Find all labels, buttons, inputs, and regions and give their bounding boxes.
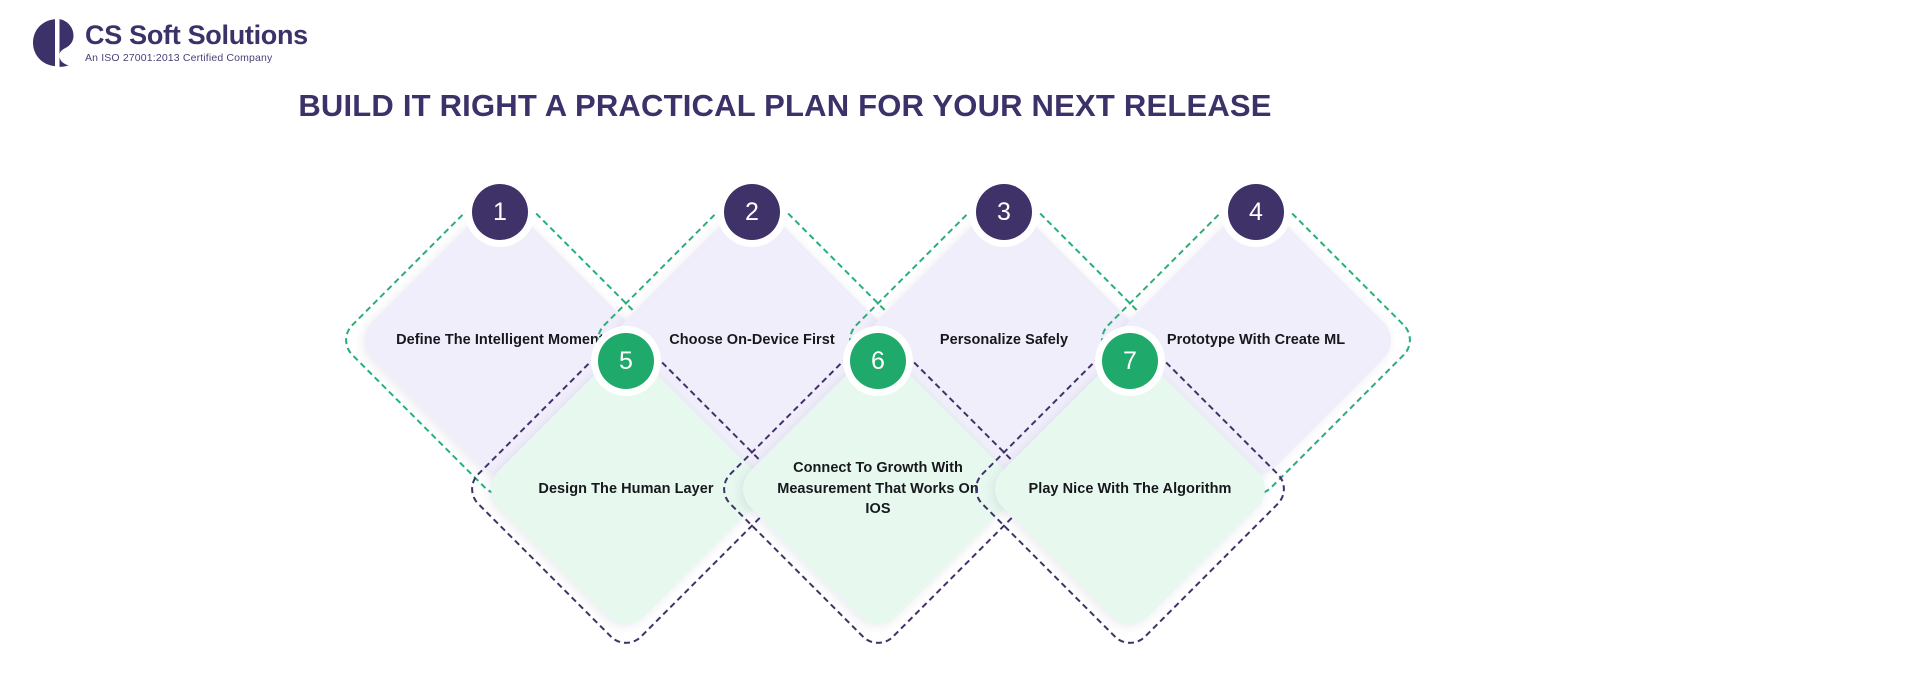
step-number-badge-6[interactable]: 6: [850, 333, 906, 389]
step-number-badge-1[interactable]: 1: [472, 184, 528, 240]
step-diamond-7[interactable]: Play Nice With The Algorithm: [1027, 386, 1233, 592]
step-number-badge-7[interactable]: 7: [1102, 333, 1158, 389]
process-diagram: Define The Intelligent Moment1Choose On-…: [0, 0, 1570, 675]
step-number-badge-5[interactable]: 5: [598, 333, 654, 389]
step-number-badge-2[interactable]: 2: [724, 184, 780, 240]
step-diamond-6[interactable]: Connect To Growth With Measurement That …: [775, 386, 981, 592]
step-number-badge-3[interactable]: 3: [976, 184, 1032, 240]
step-diamond-5[interactable]: Design The Human Layer: [523, 386, 729, 592]
step-number-badge-4[interactable]: 4: [1228, 184, 1284, 240]
